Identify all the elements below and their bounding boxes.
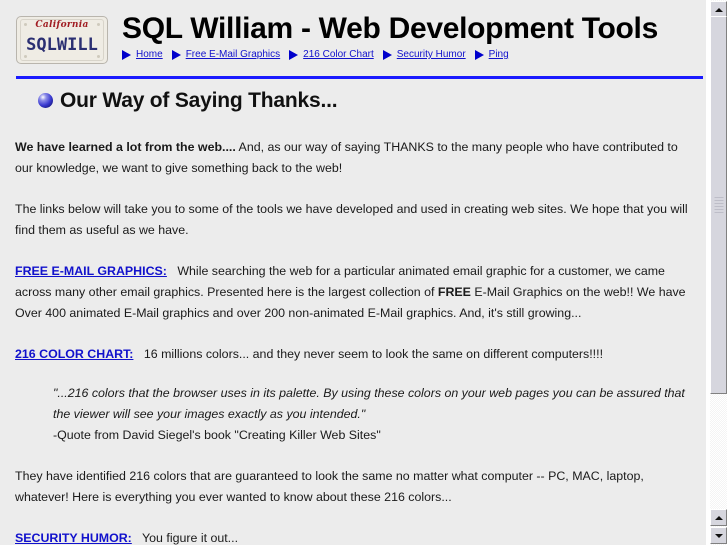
scrollbar-thumb[interactable] <box>710 16 727 394</box>
triangle-bullet-icon <box>172 50 181 60</box>
page-content: California SQLWILL SQL William - Web Dev… <box>0 0 706 545</box>
nav-link-home[interactable]: Home <box>136 49 163 61</box>
nav-link-security-humor[interactable]: Security Humor <box>397 49 466 61</box>
section-heading-text: Our Way of Saying Thanks... <box>60 89 337 113</box>
blue-sphere-bullet-icon <box>38 93 53 108</box>
scrollbar-down-button[interactable] <box>710 527 727 544</box>
link-free-email-graphics[interactable]: FREE E-MAIL GRAPHICS: <box>15 264 167 278</box>
browser-viewport: California SQLWILL SQL William - Web Dev… <box>0 0 727 545</box>
section-216-color-chart: 216 COLOR CHART: 16 millions colors... a… <box>15 344 690 365</box>
links-intro-paragraph: The links below will take you to some of… <box>15 199 690 241</box>
free-email-graphics-bold: FREE <box>438 285 471 299</box>
link-216-color-chart[interactable]: 216 COLOR CHART: <box>15 347 133 361</box>
intro-lead-text: We have learned a lot from the web.... <box>15 140 236 154</box>
plate-state-text: California <box>17 20 107 30</box>
plate-main-text: SQLWILL <box>17 34 107 56</box>
section-security-humor: SECURITY HUMOR: You figure it out... <box>15 528 690 545</box>
color-chart-text: 16 millions colors... and they never see… <box>140 347 603 361</box>
intro-paragraph: We have learned a lot from the web.... A… <box>15 137 690 179</box>
main-navigation: Home Free E-Mail Graphics 216 Color Char… <box>122 49 706 61</box>
site-header: California SQLWILL SQL William - Web Dev… <box>0 0 706 79</box>
scrollbar-up-button[interactable] <box>710 509 727 526</box>
security-humor-text: You figure it out... <box>139 531 238 545</box>
quote-attribution: -Quote from David Siegel's book "Creatin… <box>53 425 690 446</box>
nav-link-216-color-chart[interactable]: 216 Color Chart <box>303 49 374 61</box>
page-title: SQL William - Web Development Tools <box>122 12 706 46</box>
nav-link-ping[interactable]: Ping <box>489 49 509 61</box>
chevron-up-icon <box>715 516 723 520</box>
triangle-bullet-icon <box>122 50 131 60</box>
siegel-quote: "...216 colors that the browser uses in … <box>53 383 690 446</box>
main-content: We have learned a lot from the web.... A… <box>15 137 690 545</box>
header-row: California SQLWILL SQL William - Web Dev… <box>0 0 706 64</box>
sqlwill-license-plate-logo[interactable]: California SQLWILL <box>16 16 108 64</box>
quote-body: "...216 colors that the browser uses in … <box>53 386 685 421</box>
chevron-up-icon <box>715 8 723 12</box>
scrollbar-grip-icon <box>714 197 723 213</box>
section-heading: Our Way of Saying Thanks... <box>38 89 706 113</box>
nav-link-free-email-graphics[interactable]: Free E-Mail Graphics <box>186 49 280 61</box>
triangle-bullet-icon <box>475 50 484 60</box>
header-divider <box>16 76 703 79</box>
section-free-email-graphics: FREE E-MAIL GRAPHICS: While searching th… <box>15 261 690 324</box>
vertical-scrollbar[interactable] <box>706 0 727 545</box>
header-text-block: SQL William - Web Development Tools Home… <box>122 12 706 61</box>
triangle-bullet-icon <box>383 50 392 60</box>
colors-paragraph: They have identified 216 colors that are… <box>15 466 690 508</box>
link-security-humor[interactable]: SECURITY HUMOR: <box>15 531 132 545</box>
triangle-bullet-icon <box>289 50 298 60</box>
chevron-down-icon <box>715 534 723 538</box>
